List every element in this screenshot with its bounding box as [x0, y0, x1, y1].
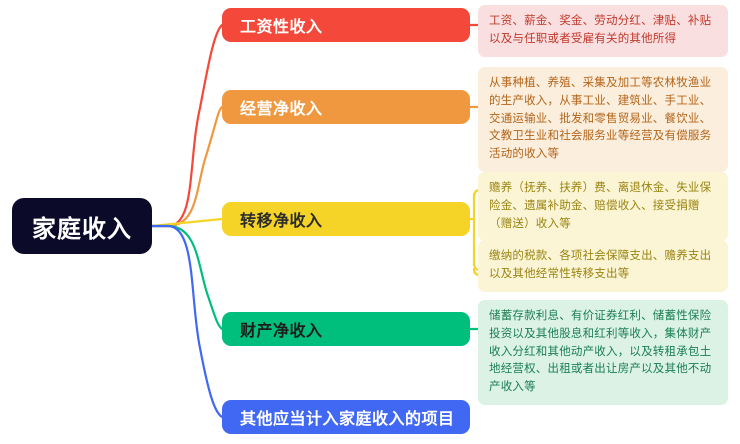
- connector-root-to-branch-1: [152, 25, 222, 226]
- connector-root-to-branch-2: [152, 107, 222, 226]
- branch-node-label: 工资性收入: [240, 13, 323, 37]
- branch-node-label: 转移净收入: [240, 207, 323, 231]
- leaf-node-zhuanyi-jingshouru-2[interactable]: 缴纳的税款、各项社会保障支出、赡养支出以及其他经常性转移支出等: [478, 240, 728, 292]
- branch-node-label: 财产净收入: [240, 317, 323, 341]
- leaf-node-caichan-jingshouru-1[interactable]: 储蓄存款利息、有价证券红利、储蓄性保险投资以及其他股息和红利等收入，集体财产收入…: [478, 300, 728, 405]
- leaf-node-text: 工资、薪金、奖金、劳动分红、津贴、补贴以及与任职或者受雇有关的其他所得: [489, 15, 711, 45]
- root-node[interactable]: 家庭收入: [12, 198, 152, 254]
- leaf-node-text: 缴纳的税款、各项社会保障支出、赡养支出以及其他经常性转移支出等: [489, 250, 711, 280]
- connector-root-to-branch-5: [152, 226, 222, 417]
- leaf-node-text: 储蓄存款利息、有价证券红利、储蓄性保险投资以及其他股息和红利等收入，集体财产收入…: [489, 310, 711, 393]
- branch-node-caichan-jingshouru[interactable]: 财产净收入: [222, 312, 470, 346]
- connector-root-to-branch-3: [152, 219, 222, 226]
- connector-root-to-branch-4: [152, 226, 222, 329]
- leaf-node-zhuanyi-jingshouru-1[interactable]: 赡养（抚养、扶养）费、离退休金、失业保险金、遗属补助金、赔偿收入、接受捐赠（赠送…: [478, 172, 728, 241]
- branch-node-zhuanyi-jingshouru[interactable]: 转移净收入: [222, 202, 470, 236]
- leaf-node-text: 从事种植、养殖、采集及加工等农林牧渔业的生产收入，从事工业、建筑业、手工业、交通…: [489, 77, 711, 160]
- root-node-label: 家庭收入: [32, 209, 132, 244]
- branch-node-label: 经营净收入: [240, 95, 323, 119]
- leaf-node-text: 赡养（抚养、扶养）费、离退休金、失业保险金、遗属补助金、赔偿收入、接受捐赠（赠送…: [489, 182, 711, 230]
- branch-node-label: 其他应当计入家庭收入的项目: [240, 405, 455, 429]
- leaf-node-gongzixing-shouru-1[interactable]: 工资、薪金、奖金、劳动分红、津贴、补贴以及与任职或者受雇有关的其他所得: [478, 5, 728, 57]
- mind-map-canvas: 家庭收入 工资性收入 工资、薪金、奖金、劳动分红、津贴、补贴以及与任职或者受雇有…: [0, 0, 740, 444]
- leaf-node-jingying-jingshouru-1[interactable]: 从事种植、养殖、采集及加工等农林牧渔业的生产收入，从事工业、建筑业、手工业、交通…: [478, 67, 728, 172]
- branch-node-jingying-jingshouru[interactable]: 经营净收入: [222, 90, 470, 124]
- branch-node-gongzixing-shouru[interactable]: 工资性收入: [222, 8, 470, 42]
- branch-node-qita-xiangmu[interactable]: 其他应当计入家庭收入的项目: [222, 400, 470, 434]
